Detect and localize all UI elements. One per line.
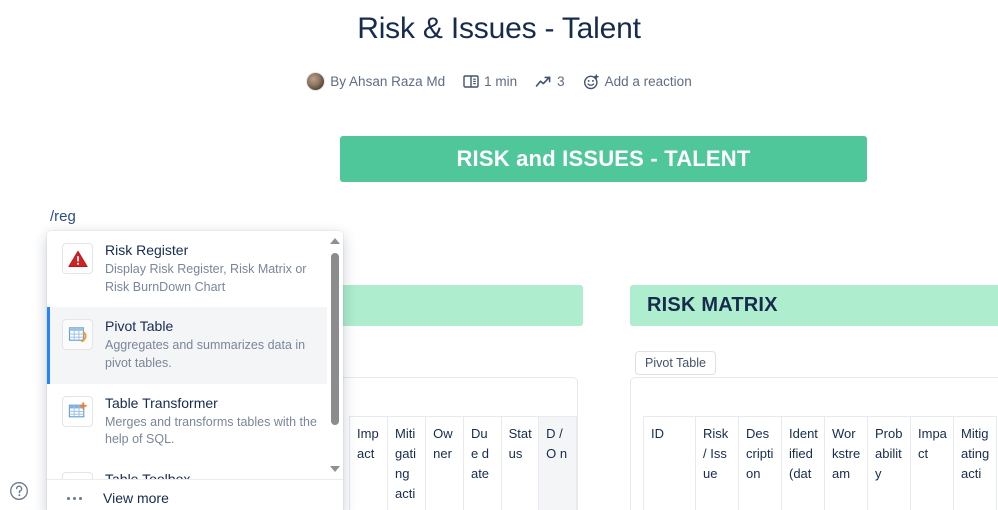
- scrollbar-thumb[interactable]: [331, 253, 339, 425]
- book-icon: [463, 74, 479, 89]
- emoji-add-icon: [583, 74, 600, 90]
- dropdown-item-text: Table Toolbox Allows to use Table Filter…: [105, 470, 321, 479]
- risk-matrix-banner[interactable]: RISK MATRIX: [630, 285, 998, 326]
- table-header-cell[interactable]: Identified (dat: [782, 417, 825, 510]
- dropdown-item-text: Risk Register Display Risk Register, Ris…: [105, 241, 321, 296]
- slash-command-list: Risk Register Display Risk Register, Ris…: [47, 231, 343, 479]
- dropdown-item-title: Risk Register: [105, 241, 321, 260]
- dropdown-item-table-toolbox[interactable]: Table Toolbox Allows to use Table Filter…: [47, 460, 343, 479]
- add-reaction-label: Add a reaction: [605, 74, 692, 89]
- pivot-table-macro-label: Pivot Table: [645, 356, 706, 370]
- avatar: [306, 72, 325, 91]
- author-meta[interactable]: By Ahsan Raza Md: [297, 72, 454, 91]
- table-header-cell[interactable]: Owner: [426, 417, 464, 510]
- dropdown-view-more-button[interactable]: View more: [47, 479, 343, 510]
- caret-up-icon[interactable]: [328, 234, 342, 248]
- table-header-cell[interactable]: ID: [644, 417, 696, 510]
- table-header-row: ID Risk / Issue Description Identified (…: [644, 417, 997, 510]
- slash-command-input[interactable]: /reg: [50, 208, 76, 225]
- slash-command-dropdown[interactable]: Risk Register Display Risk Register, Ris…: [47, 231, 343, 510]
- left-table-card[interactable]: Impact Mitigating acti Owner Due date St…: [340, 377, 578, 510]
- left-section-banner[interactable]: [340, 285, 583, 326]
- risk-matrix-table: ID Risk / Issue Description Identified (…: [643, 416, 997, 510]
- dropdown-view-more-label: View more: [103, 490, 169, 506]
- author-label: By Ahsan Raza Md: [330, 74, 445, 89]
- dropdown-scrollbar[interactable]: [327, 231, 343, 479]
- table-transformer-icon: [62, 396, 93, 427]
- table-header-cell[interactable]: Due date: [463, 417, 501, 510]
- dropdown-item-risk-register[interactable]: Risk Register Display Risk Register, Ris…: [47, 231, 343, 307]
- table-header-cell[interactable]: Probability: [868, 417, 911, 510]
- table-header-cell[interactable]: Status: [501, 417, 538, 510]
- table-header-cell[interactable]: Workstream: [825, 417, 868, 510]
- risk-matrix-table-card[interactable]: ID Risk / Issue Description Identified (…: [630, 377, 998, 510]
- table-header-cell[interactable]: Impact: [350, 417, 388, 510]
- page-title: Risk & Issues - Talent: [0, 12, 998, 46]
- table-header-cell[interactable]: Mitigating acti: [388, 417, 426, 510]
- page-root: Risk & Issues - Talent By Ahsan Raza Md …: [0, 0, 998, 510]
- pivot-table-icon: [62, 319, 93, 350]
- read-time-label: 1 min: [484, 74, 517, 89]
- caret-down-icon[interactable]: [328, 462, 342, 476]
- warning-triangle-icon: [62, 243, 93, 274]
- pivot-table-macro-chip[interactable]: Pivot Table: [635, 351, 716, 375]
- table-toolbox-icon: [62, 472, 93, 479]
- analytics-icon: [535, 75, 552, 89]
- left-table: Impact Mitigating acti Owner Due date St…: [349, 416, 577, 510]
- dropdown-item-title: Table Toolbox: [105, 470, 321, 479]
- dropdown-item-description: Merges and transforms tables with the he…: [105, 414, 321, 450]
- dropdown-item-pivot-table[interactable]: Pivot Table Aggregates and summarizes da…: [47, 307, 343, 383]
- dropdown-item-text: Pivot Table Aggregates and summarizes da…: [105, 317, 321, 372]
- help-circle-icon[interactable]: [9, 481, 29, 501]
- table-header-cell[interactable]: Mitigating acti: [954, 417, 997, 510]
- dropdown-item-description: Aggregates and summarizes data in pivot …: [105, 337, 321, 373]
- main-status-banner[interactable]: RISK and ISSUES - TALENT: [340, 136, 867, 182]
- add-reaction-button[interactable]: Add a reaction: [574, 74, 701, 90]
- main-status-banner-label: RISK and ISSUES - TALENT: [456, 146, 750, 172]
- table-header-cell[interactable]: D / O n: [539, 417, 577, 510]
- read-time-meta: 1 min: [454, 74, 526, 89]
- views-count: 3: [557, 74, 565, 89]
- dropdown-item-title: Pivot Table: [105, 317, 321, 336]
- dropdown-item-table-transformer[interactable]: Table Transformer Merges and transforms …: [47, 384, 343, 460]
- document-meta-row: By Ahsan Raza Md 1 min 3: [0, 72, 998, 91]
- table-header-cell[interactable]: Description: [739, 417, 782, 510]
- risk-matrix-banner-label: RISK MATRIX: [630, 294, 778, 317]
- table-header-cell[interactable]: Risk / Issue: [696, 417, 739, 510]
- table-header-row: Impact Mitigating acti Owner Due date St…: [350, 417, 577, 510]
- ellipsis-icon: [67, 497, 89, 500]
- dropdown-item-title: Table Transformer: [105, 394, 321, 413]
- table-header-cell[interactable]: Impact: [911, 417, 954, 510]
- dropdown-item-text: Table Transformer Merges and transforms …: [105, 394, 321, 449]
- views-meta[interactable]: 3: [526, 74, 574, 89]
- dropdown-item-description: Display Risk Register, Risk Matrix or Ri…: [105, 261, 321, 297]
